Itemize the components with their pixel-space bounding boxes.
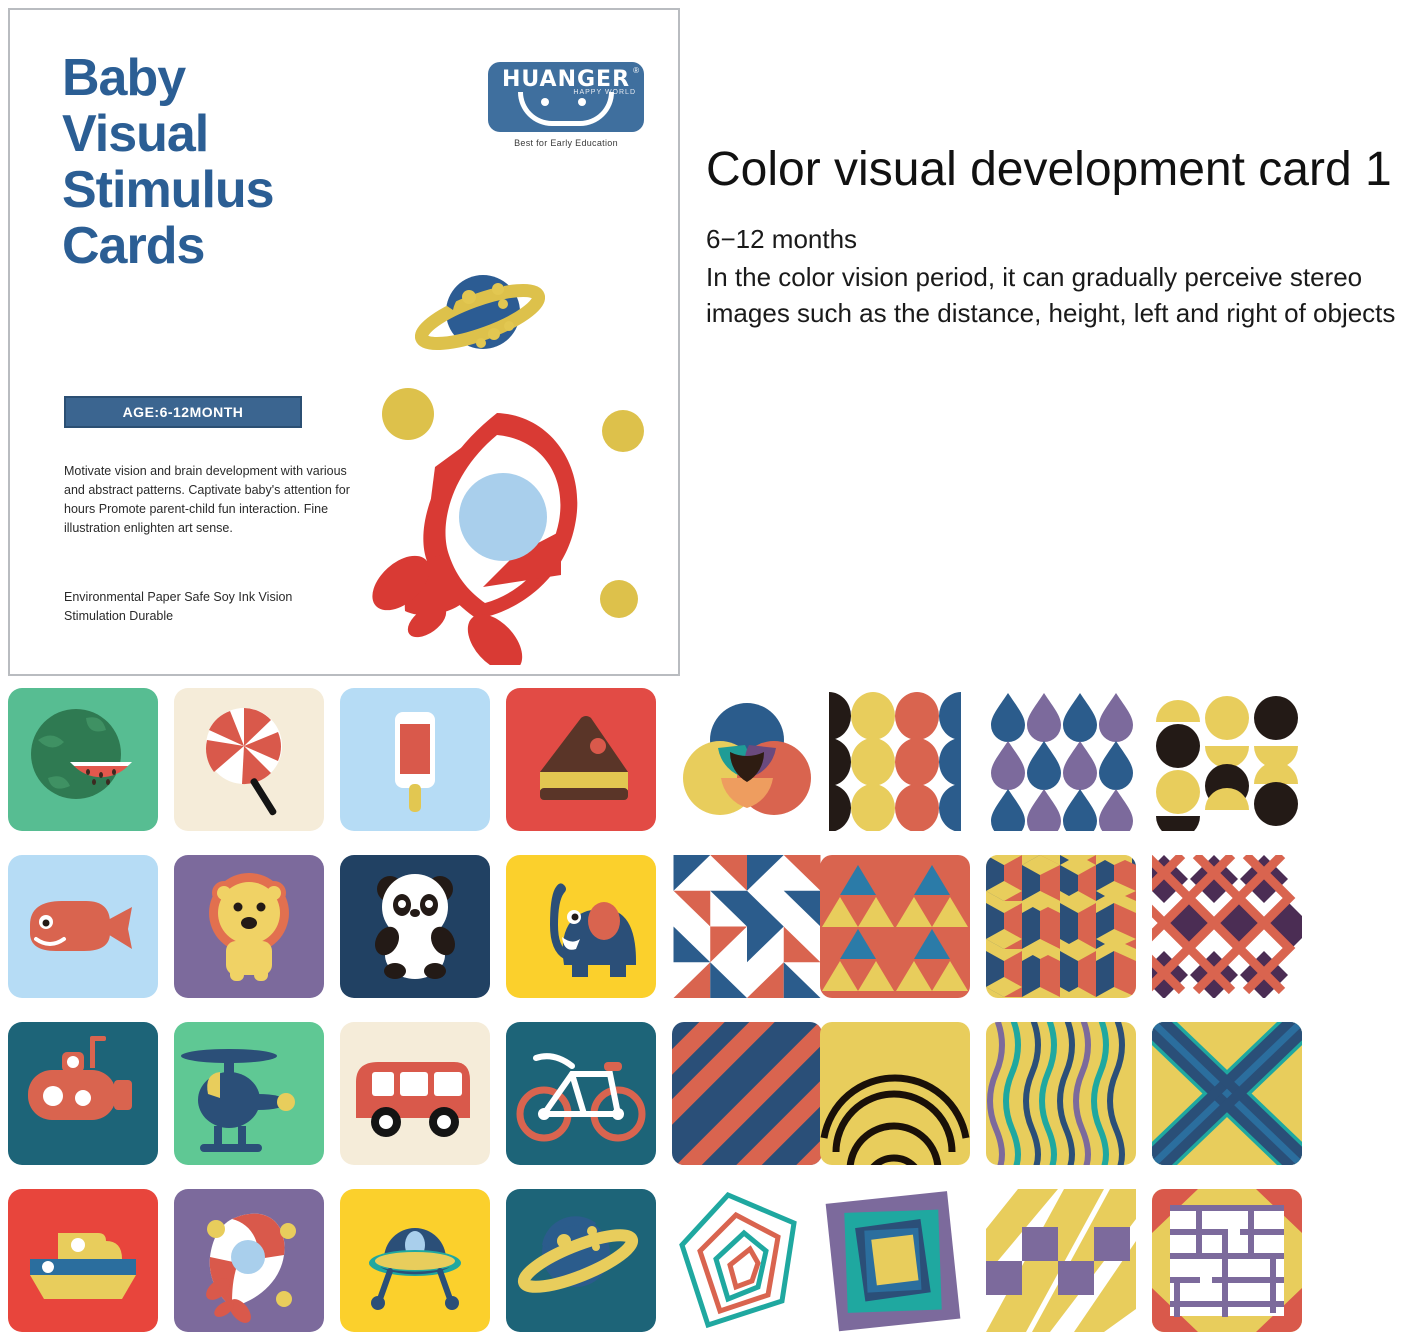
cake-slice-icon bbox=[506, 688, 656, 831]
star-dot-3 bbox=[600, 580, 638, 618]
card-helicopter[interactable] bbox=[174, 1022, 324, 1165]
package-title: Baby Visual Stimulus Cards bbox=[62, 50, 392, 274]
package-tagline: Best for Early Education bbox=[488, 138, 644, 148]
eye-right-icon bbox=[578, 98, 586, 106]
star-dot-1 bbox=[382, 388, 434, 440]
cube-tiles-icon bbox=[986, 855, 1136, 998]
pinwheel-triangles-icon bbox=[672, 855, 822, 998]
age-badge: AGE:6-12MONTH bbox=[64, 396, 302, 428]
page-title: Color visual development card 1 bbox=[706, 140, 1406, 200]
pattern-concentric-arcs[interactable] bbox=[820, 1022, 970, 1165]
package-body-text-2: Environmental Paper Safe Soy Ink Vision … bbox=[64, 588, 354, 626]
panda-icon bbox=[340, 855, 490, 998]
package-body-text: Motivate vision and brain development wi… bbox=[64, 462, 354, 538]
card-lollipop[interactable] bbox=[174, 688, 324, 831]
whale-icon bbox=[8, 855, 158, 998]
package-title-line-3: Stimulus bbox=[62, 162, 392, 218]
rocket-icon bbox=[365, 405, 635, 665]
bus-icon bbox=[340, 1022, 490, 1165]
pattern-oval-column-grid[interactable] bbox=[820, 688, 970, 831]
teardrop-grid-icon bbox=[986, 688, 1136, 831]
pattern-nested-pentagons[interactable] bbox=[672, 1189, 822, 1332]
pattern-teardrop-grid[interactable] bbox=[986, 688, 1136, 831]
card-ufo[interactable] bbox=[340, 1189, 490, 1332]
package-title-line-1: Baby bbox=[62, 50, 392, 106]
grid-maze-icon bbox=[1152, 1189, 1302, 1332]
popsicle-icon bbox=[340, 688, 490, 831]
age-range-label: 6−12 months bbox=[706, 224, 1406, 255]
pattern-pinwheel-triangles[interactable] bbox=[672, 855, 822, 998]
pattern-diagonal-bands-checker[interactable] bbox=[986, 1189, 1136, 1332]
wavy-lines-icon bbox=[986, 1022, 1136, 1165]
pattern-nested-squares[interactable] bbox=[820, 1189, 970, 1332]
product-description-panel: Color visual development card 1 6−12 mon… bbox=[706, 140, 1406, 331]
card-cake-slice[interactable] bbox=[506, 688, 656, 831]
package-title-line-2: Visual bbox=[62, 106, 392, 162]
elephant-icon bbox=[506, 855, 656, 998]
oval-column-grid-icon bbox=[820, 688, 970, 831]
planet-icon bbox=[415, 262, 545, 372]
x-cross-icon bbox=[1152, 1022, 1302, 1165]
diamond-lattice-icon bbox=[1152, 855, 1302, 998]
lion-icon bbox=[174, 855, 324, 998]
pattern-venn-circles[interactable] bbox=[672, 688, 822, 831]
card-saturn[interactable] bbox=[506, 1189, 656, 1332]
card-lion[interactable] bbox=[174, 855, 324, 998]
watermelon-icon bbox=[8, 688, 158, 831]
card-rocket[interactable] bbox=[174, 1189, 324, 1332]
package-title-line-4: Cards bbox=[62, 218, 392, 274]
ufo-icon bbox=[340, 1189, 490, 1332]
card-watermelon[interactable] bbox=[8, 688, 158, 831]
huanger-logo: HUANGER HAPPY WORLD ® bbox=[488, 62, 644, 132]
card-popsicle[interactable] bbox=[340, 688, 490, 831]
triangle-rows-icon bbox=[820, 855, 970, 998]
concentric-arcs-icon bbox=[820, 1022, 970, 1165]
lollipop-icon bbox=[174, 688, 324, 831]
eye-left-icon bbox=[541, 98, 549, 106]
pattern-wavy-lines[interactable] bbox=[986, 1022, 1136, 1165]
pattern-cube-tiles[interactable] bbox=[986, 855, 1136, 998]
star-dot-2 bbox=[602, 410, 644, 452]
card-bicycle[interactable] bbox=[506, 1022, 656, 1165]
nested-squares-icon bbox=[820, 1189, 970, 1332]
bicycle-icon bbox=[506, 1022, 656, 1165]
card-grid bbox=[8, 688, 1408, 1320]
black-yellow-circles-icon bbox=[1152, 688, 1302, 831]
rocket-card-icon bbox=[174, 1189, 324, 1332]
description-text: In the color vision period, it can gradu… bbox=[706, 259, 1406, 331]
card-ship[interactable] bbox=[8, 1189, 158, 1332]
pattern-black-yellow-circles[interactable] bbox=[1152, 688, 1302, 831]
pattern-diamond-lattice[interactable] bbox=[1152, 855, 1302, 998]
card-submarine[interactable] bbox=[8, 1022, 158, 1165]
card-whale[interactable] bbox=[8, 855, 158, 998]
card-panda[interactable] bbox=[340, 855, 490, 998]
venn-circles-icon bbox=[672, 688, 822, 831]
pattern-triangle-rows[interactable] bbox=[820, 855, 970, 998]
helicopter-icon bbox=[174, 1022, 324, 1165]
pattern-grid-maze[interactable] bbox=[1152, 1189, 1302, 1332]
card-elephant[interactable] bbox=[506, 855, 656, 998]
submarine-icon bbox=[8, 1022, 158, 1165]
registered-mark-icon: ® bbox=[633, 66, 639, 75]
product-package-box: Baby Visual Stimulus Cards HUANGER HAPPY… bbox=[8, 8, 680, 676]
pattern-x-cross[interactable] bbox=[1152, 1022, 1302, 1165]
pattern-diagonal-stripes[interactable] bbox=[672, 1022, 822, 1165]
card-bus[interactable] bbox=[340, 1022, 490, 1165]
saturn-icon bbox=[506, 1189, 656, 1332]
nested-pentagons-icon bbox=[672, 1189, 822, 1332]
diagonal-bands-checker-icon bbox=[986, 1189, 1136, 1332]
diagonal-stripes-icon bbox=[672, 1022, 822, 1165]
smile-icon bbox=[518, 92, 614, 126]
ship-icon bbox=[8, 1189, 158, 1332]
